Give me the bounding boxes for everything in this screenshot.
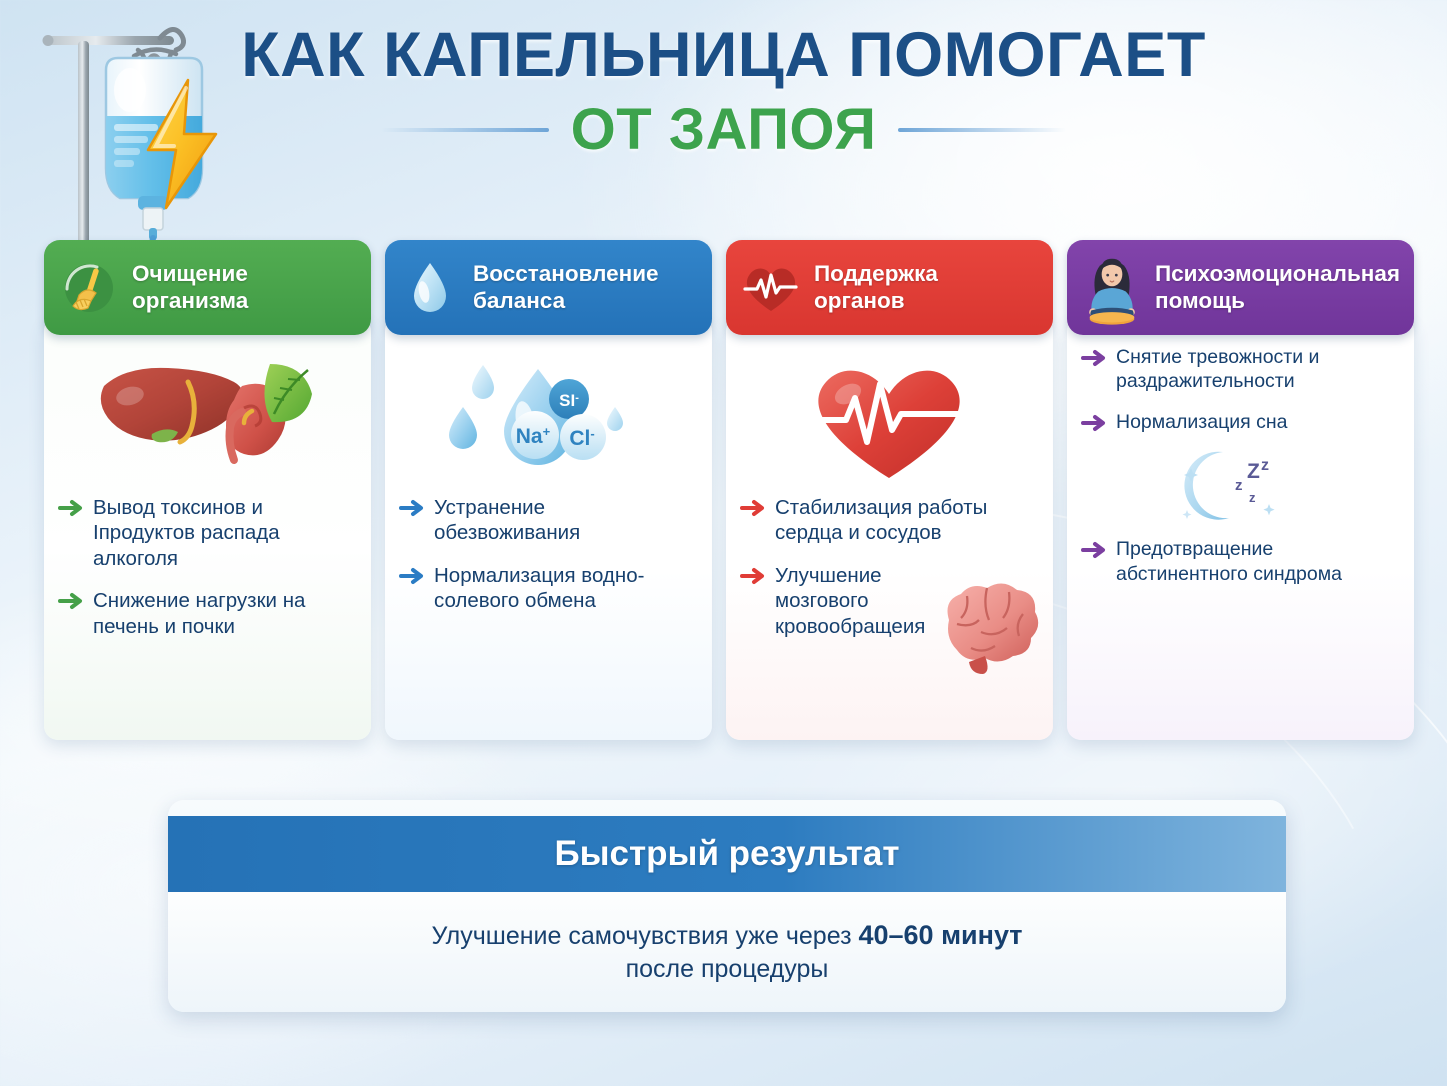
svg-text:z: z [1235,477,1243,494]
card-balance-header: Восстановление баланса [385,240,712,335]
fast-result-banner-body: Улучшение самочувствия уже через 40–60 м… [168,892,1286,1012]
list-item: Предотвращение абстинентного синдрома [1081,537,1398,585]
list-item-text: Улучшение мозгового кровообращеия [775,563,943,639]
card-psycho-body: Снятие тревожности и раздражительности Н… [1067,317,1414,740]
arrow-right-icon [58,498,84,523]
list-item: Вывод токсинов и Iпродуктов распада алко… [58,495,355,571]
liver-kidney-illustration [58,351,355,491]
svg-text:z: z [1249,490,1256,505]
card-psycho-bullets: Снятие тревожности и раздражительности Н… [1081,345,1398,438]
card-psycho-bullets-2: Предотвращение абстинентного синдрома [1081,537,1398,585]
list-item: Устранение обезвоживания [399,495,696,546]
fast-result-title: Быстрый результат [555,834,900,874]
card-cleansing[interactable]: Очищение организма [44,240,371,740]
fast-result-banner-header: Быстрый результат [168,816,1286,892]
card-balance-body: SI- Na+ Cl- Устранение обезвоживания [385,317,712,740]
card-organs-header: Поддержка органов [726,240,1053,335]
card-balance[interactable]: Восстановление баланса [385,240,712,740]
list-item: Стабилизация работы сердца и сосудов [740,495,1037,546]
arrow-right-icon [1081,413,1107,438]
arrow-right-icon [399,566,425,591]
card-balance-title: Восстановление баланса [473,261,659,314]
card-psycho-title-line1: Психоэмоциональная [1155,261,1400,286]
card-organs[interactable]: Поддержка органов [726,240,1053,740]
arrow-right-icon [399,498,425,523]
list-item: Снятие тревожности и раздражительности [1081,345,1398,393]
fast-result-line2: после процедуры [626,955,829,984]
card-balance-title-line2: баланса [473,288,565,313]
svg-text:Z: Z [1247,460,1260,483]
benefit-cards-row: Очищение организма [44,240,1414,740]
list-item-text: Предотвращение абстинентного синдрома [1116,537,1398,585]
heart-pulse-illustration [740,351,1037,491]
card-balance-title-line1: Восстановление [473,261,659,286]
arrow-right-icon [1081,348,1107,373]
card-psycho[interactable]: Психоэмоциональная помощь Снятие тревожн… [1067,240,1414,740]
card-psycho-header: Психоэмоциональная помощь [1067,240,1414,335]
arrow-right-icon [740,498,766,523]
fast-result-line1: Улучшение самочувствия уже через 40–60 м… [431,920,1022,951]
subtitle-rule-right [898,128,1066,132]
card-balance-bullets: Устранение обезвоживания Нормализация во… [399,495,696,614]
list-item-text: Нормализация сна [1116,410,1287,434]
arrow-right-icon [1081,540,1107,565]
water-drop-icon [399,257,461,319]
card-psycho-title-line2: помощь [1155,288,1245,313]
list-item: Снижение нагрузки на печень и почки [58,588,355,639]
fast-result-line1-prefix: Улучшение самочувствия уже через [431,922,858,950]
list-item-text: Снижение нагрузки на печень и почки [93,588,355,639]
card-organs-body: Стабилизация работы сердца и сосудов Улу… [726,317,1053,740]
card-cleansing-title: Очищение организма [132,261,248,314]
arrow-right-icon [58,591,84,616]
card-organs-title: Поддержка органов [814,261,938,314]
broom-icon [58,257,120,319]
list-item-text: Вывод токсинов и Iпродуктов распада алко… [93,495,355,571]
brain-illustration [927,574,1055,674]
lightning-bolt-icon [136,78,226,210]
moon-sleep-illustration: Z z z z [1081,440,1398,535]
heart-pulse-icon [740,257,802,319]
svg-text:z: z [1261,457,1269,474]
water-drops-electrolytes-illustration: SI- Na+ Cl- [399,351,696,491]
page-title-sub: ОТ ЗАПОЯ [571,96,877,163]
card-psycho-title: Психоэмоциональная помощь [1155,261,1400,314]
list-item-text: Снятие тревожности и раздражительности [1116,345,1398,393]
subtitle-rule-left [381,128,549,132]
arrow-right-icon [740,566,766,591]
card-cleansing-title-line2: организма [132,288,248,313]
meditation-woman-icon [1081,257,1143,319]
card-cleansing-header: Очищение организма [44,240,371,335]
list-item: Нормализация водно-солевого обмена [399,563,696,614]
list-item-text: Устранение обезвоживания [434,495,696,546]
list-item-text: Стабилизация работы сердца и сосудов [775,495,1037,546]
list-item: Нормализация сна [1081,410,1398,438]
card-cleansing-title-line1: Очищение [132,261,248,286]
card-cleansing-body: Вывод токсинов и Iпродуктов распада алко… [44,317,371,740]
card-cleansing-bullets: Вывод токсинов и Iпродуктов распада алко… [58,495,355,639]
fast-result-banner: Быстрый результат Улучшение самочувствия… [168,800,1286,1012]
fast-result-highlight: 40–60 минут [858,920,1022,950]
list-item-text: Нормализация водно-солевого обмена [434,563,696,614]
card-organs-title-line2: органов [814,288,905,313]
card-organs-title-line1: Поддержка [814,261,938,286]
